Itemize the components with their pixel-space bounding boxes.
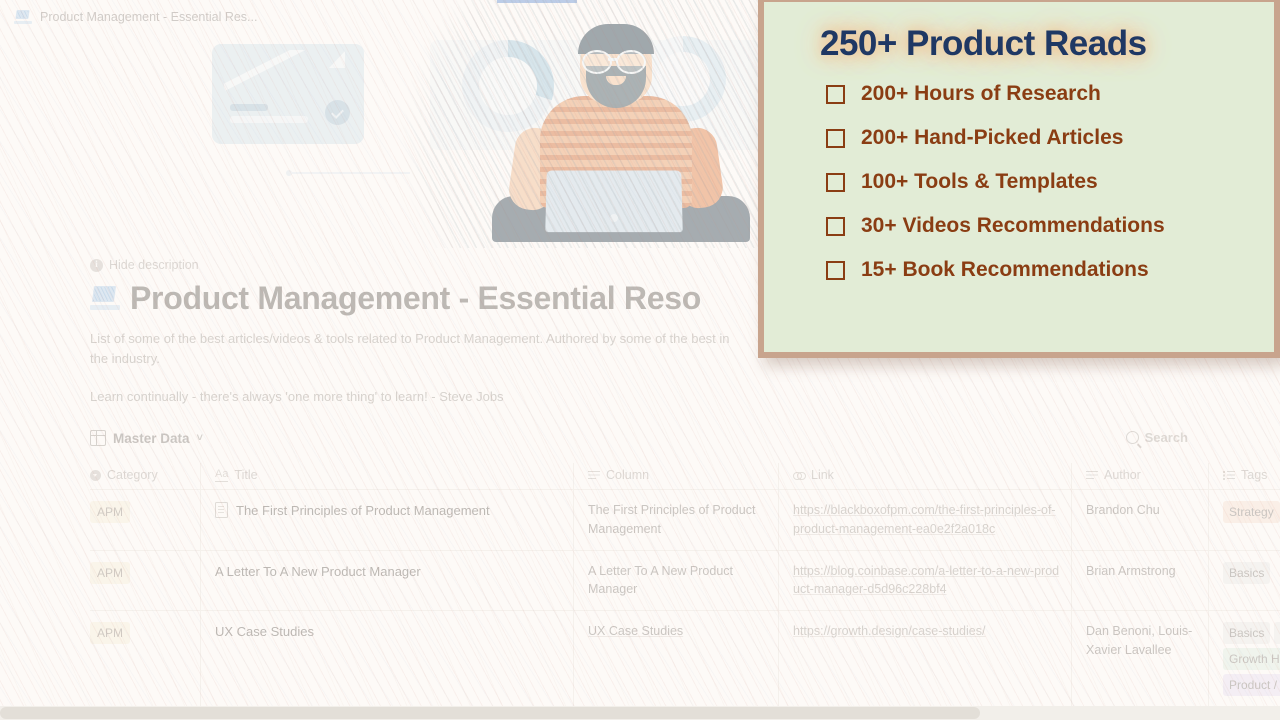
- breadcrumb-label: Product Management - Essential Res...: [40, 10, 257, 24]
- laptop-icon: [90, 286, 120, 310]
- promo-list: 200+ Hours of Research 200+ Hand-Picked …: [764, 82, 1274, 282]
- checkbox-icon: [826, 129, 845, 148]
- info-icon: i: [90, 259, 103, 272]
- tag: Product / Market Fit: [1223, 674, 1280, 696]
- table-header-row: Category Aa Title Column: [90, 463, 1280, 490]
- scrollbar-thumb[interactable]: [0, 707, 980, 719]
- checkbox-icon: [826, 217, 845, 236]
- link-text[interactable]: https://blog.coinbase.com/a-letter-to-a-…: [793, 564, 1059, 597]
- promo-list-item: 30+ Videos Recommendations: [826, 214, 1274, 238]
- text-lines-icon: [588, 471, 600, 480]
- column-header-category[interactable]: Category: [90, 463, 201, 490]
- title-text: A Letter To A New Product Manager: [215, 562, 421, 582]
- cell-link[interactable]: https://blog.coinbase.com/a-letter-to-a-…: [779, 550, 1072, 611]
- search-icon: [1126, 431, 1139, 444]
- column-header-title[interactable]: Aa Title: [201, 463, 574, 490]
- cell-category[interactable]: APM: [90, 611, 201, 712]
- cell-author[interactable]: Brian Armstrong: [1072, 550, 1209, 611]
- promo-list-item: 200+ Hand-Picked Articles: [826, 126, 1274, 150]
- promo-list-item: 15+ Book Recommendations: [826, 258, 1274, 282]
- checkbox-icon: [826, 261, 845, 280]
- column-header-label: Category: [107, 468, 158, 482]
- category-badge: APM: [90, 501, 130, 523]
- breadcrumb[interactable]: Product Management - Essential Res...: [14, 10, 257, 24]
- promo-headline: 250+ Product Reads: [820, 24, 1274, 64]
- promo-item-label: 200+ Hand-Picked Articles: [861, 126, 1123, 150]
- cell-title[interactable]: UX Case Studies: [201, 611, 574, 712]
- text-lines-icon: [1086, 471, 1098, 480]
- cell-column[interactable]: The First Principles of Product Manageme…: [574, 490, 779, 551]
- table-row[interactable]: APM A Letter To A New Product Manager A …: [90, 550, 1280, 611]
- column-header-column[interactable]: Column: [574, 463, 779, 490]
- cell-tags[interactable]: StrategyBasics: [1209, 490, 1280, 551]
- title-text: UX Case Studies: [215, 622, 314, 642]
- horizontal-scrollbar[interactable]: [0, 706, 1280, 720]
- cell-title[interactable]: A Letter To A New Product Manager: [201, 550, 574, 611]
- tag: UX: [1274, 622, 1280, 644]
- cell-category[interactable]: APM: [90, 550, 201, 611]
- page-description-1: List of some of the best articles/videos…: [90, 329, 730, 369]
- category-badge: APM: [90, 622, 130, 644]
- category-badge: APM: [90, 562, 130, 584]
- grid-icon: [90, 430, 106, 446]
- hide-description-label: Hide description: [109, 258, 199, 272]
- tag: Strategy: [1223, 501, 1280, 523]
- link-text[interactable]: https://growth.design/case-studies/: [793, 624, 985, 638]
- document-icon: [215, 502, 228, 518]
- promo-list-item: 200+ Hours of Research: [826, 82, 1274, 106]
- cell-author[interactable]: Dan Benoni, Louis-Xavier Lavallee: [1072, 611, 1209, 712]
- select-icon: [90, 470, 101, 481]
- hero-illustration: [0, 0, 760, 248]
- page-description-2: Learn continually - there's always 'one …: [90, 387, 730, 407]
- checkbox-icon: [826, 173, 845, 192]
- database-view-selector[interactable]: Master Data ˅ Search: [90, 430, 1280, 446]
- column-header-label: Tags: [1241, 468, 1267, 482]
- promo-item-label: 100+ Tools & Templates: [861, 170, 1098, 194]
- multiselect-icon: [1223, 471, 1235, 480]
- link-icon: [793, 471, 805, 480]
- chevron-down-icon: ˅: [197, 432, 203, 444]
- column-header-label: Title: [234, 468, 257, 482]
- cell-author[interactable]: Brandon Chu: [1072, 490, 1209, 551]
- column-header-link[interactable]: Link: [779, 463, 1072, 490]
- column-header-label: Column: [606, 468, 649, 482]
- database-block: Master Data ˅ Search Category Aa Titl: [0, 430, 1280, 720]
- cell-tags[interactable]: Basics: [1209, 550, 1280, 611]
- text-icon: Aa: [215, 468, 228, 481]
- promo-item-label: 30+ Videos Recommendations: [861, 214, 1165, 238]
- page-title-text: Product Management - Essential Reso: [130, 280, 701, 317]
- database-view-name: Master Data: [113, 431, 190, 446]
- link-text[interactable]: https://blackboxofpm.com/the-first-princ…: [793, 503, 1056, 536]
- cell-title[interactable]: The First Principles of Product Manageme…: [201, 490, 574, 551]
- cell-column[interactable]: UX Case Studies: [574, 611, 779, 712]
- laptop-icon: [14, 10, 32, 24]
- column-header-label: Link: [811, 468, 834, 482]
- tag: Basics: [1223, 622, 1270, 644]
- cell-link[interactable]: https://blackboxofpm.com/the-first-princ…: [779, 490, 1072, 551]
- tag: Growth Hacking: [1223, 648, 1280, 670]
- promo-list-item: 100+ Tools & Templates: [826, 170, 1274, 194]
- table-body: APM The First Principles of Product Mana…: [90, 490, 1280, 712]
- cell-link[interactable]: https://growth.design/case-studies/: [779, 611, 1072, 712]
- table-row[interactable]: APM The First Principles of Product Mana…: [90, 490, 1280, 551]
- cell-category[interactable]: APM: [90, 490, 201, 551]
- column-header-author[interactable]: Author: [1072, 463, 1209, 490]
- column-header-tags[interactable]: Tags: [1209, 463, 1280, 490]
- cell-column[interactable]: A Letter To A New Product Manager: [574, 550, 779, 611]
- title-text: The First Principles of Product Manageme…: [236, 501, 490, 521]
- tag: Basics: [1223, 562, 1270, 584]
- promo-item-label: 200+ Hours of Research: [861, 82, 1101, 106]
- cell-tags[interactable]: BasicsUXGrowth HackingProduct / Market F…: [1209, 611, 1280, 712]
- table-row[interactable]: APM UX Case Studies UX Case Studies http…: [90, 611, 1280, 712]
- promo-item-label: 15+ Book Recommendations: [861, 258, 1149, 282]
- search-label: Search: [1145, 430, 1188, 445]
- column-link-text[interactable]: UX Case Studies: [588, 624, 683, 638]
- search-button[interactable]: Search: [1126, 430, 1188, 445]
- promo-overlay-panel: 250+ Product Reads 200+ Hours of Researc…: [758, 0, 1280, 358]
- column-header-label: Author: [1104, 468, 1141, 482]
- database-table: Category Aa Title Column: [90, 463, 1280, 712]
- checkbox-icon: [826, 85, 845, 104]
